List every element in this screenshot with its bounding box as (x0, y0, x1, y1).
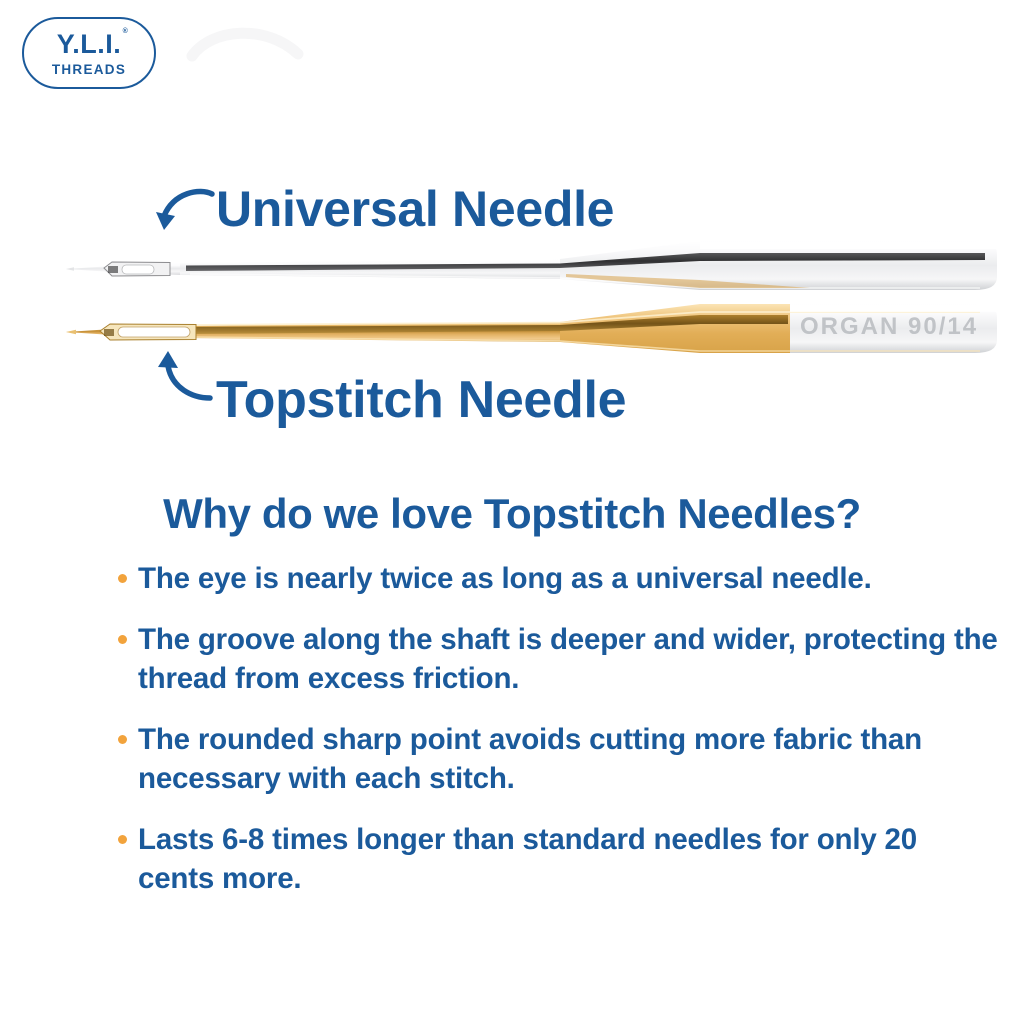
logo-subtitle: THREADS (52, 63, 126, 77)
section-heading: Why do we love Topstitch Needles? (0, 490, 1024, 538)
logo-wordmark: Y.L.I. ® (57, 31, 122, 58)
list-item-text: The rounded sharp point avoids cutting m… (138, 721, 998, 799)
topstitch-needle-eye (118, 327, 190, 337)
list-item-text: The eye is nearly twice as long as a uni… (138, 560, 872, 599)
universal-needle-eye (122, 265, 154, 274)
decorative-arc (186, 22, 304, 62)
curved-arrow-up-left-icon (152, 348, 222, 404)
bullet-dot-icon (118, 735, 127, 744)
list-item-text: Lasts 6-8 times longer than standard nee… (138, 821, 998, 899)
bullet-dot-icon (118, 635, 127, 644)
universal-needle-graphic (66, 241, 997, 290)
bullet-dot-icon (118, 835, 127, 844)
list-item: The rounded sharp point avoids cutting m… (118, 721, 998, 799)
list-item: The groove along the shaft is deeper and… (118, 621, 998, 699)
list-item: The eye is nearly twice as long as a uni… (118, 560, 998, 599)
topstitch-needle-graphic: ORGAN 90/14 (66, 304, 997, 353)
logo-wordmark-text: Y.L.I. (57, 29, 122, 59)
topstitch-needle-label: Topstitch Needle (216, 370, 626, 430)
yli-threads-logo: Y.L.I. ® THREADS (22, 17, 156, 89)
needle-shank-engraving: ORGAN 90/14 (800, 313, 978, 340)
bullet-dot-icon (118, 574, 127, 583)
registered-trademark-icon: ® (123, 28, 129, 35)
benefits-list: The eye is nearly twice as long as a uni… (118, 560, 998, 921)
infographic-page: Y.L.I. ® THREADS Universal Needle (0, 0, 1024, 1024)
list-item: Lasts 6-8 times longer than standard nee… (118, 821, 998, 899)
list-item-text: The groove along the shaft is deeper and… (138, 621, 998, 699)
